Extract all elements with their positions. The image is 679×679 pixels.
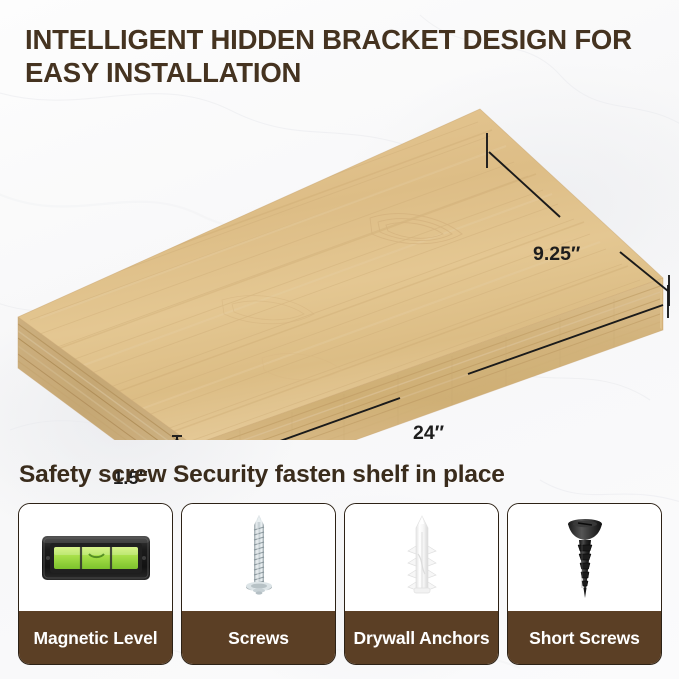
drywall-anchor-icon xyxy=(397,512,447,604)
accessory-card-screws[interactable]: Screws xyxy=(181,503,336,665)
card-media xyxy=(508,504,661,611)
section-subtitle: Safety screw Security fasten shelf in pl… xyxy=(19,461,505,489)
accessory-card-row: Magnetic Level xyxy=(18,503,662,665)
shelf-illustration: 9.25″ 24″ 1.5″ xyxy=(0,100,679,440)
product-infographic: INTELLIGENT HIDDEN BRACKET DESIGN FOR EA… xyxy=(0,0,679,679)
dimension-depth-label: 9.25″ xyxy=(533,243,580,266)
accessory-card-drywall-anchors[interactable]: Drywall Anchors xyxy=(344,503,499,665)
card-media xyxy=(345,504,498,611)
card-media xyxy=(182,504,335,611)
accessory-card-short-screws[interactable]: Short Screws xyxy=(507,503,662,665)
long-screw-icon xyxy=(237,512,281,604)
card-label: Drywall Anchors xyxy=(345,611,498,664)
card-label: Short Screws xyxy=(508,611,661,664)
card-label: Screws xyxy=(182,611,335,664)
dimension-length-label: 24″ xyxy=(413,422,444,445)
page-title: INTELLIGENT HIDDEN BRACKET DESIGN FOR EA… xyxy=(25,23,665,89)
card-label: Magnetic Level xyxy=(19,611,172,664)
spirit-level-icon xyxy=(40,532,152,584)
accessory-card-magnetic-level[interactable]: Magnetic Level xyxy=(18,503,173,665)
short-black-screw-icon xyxy=(558,514,612,602)
card-media xyxy=(19,504,172,611)
